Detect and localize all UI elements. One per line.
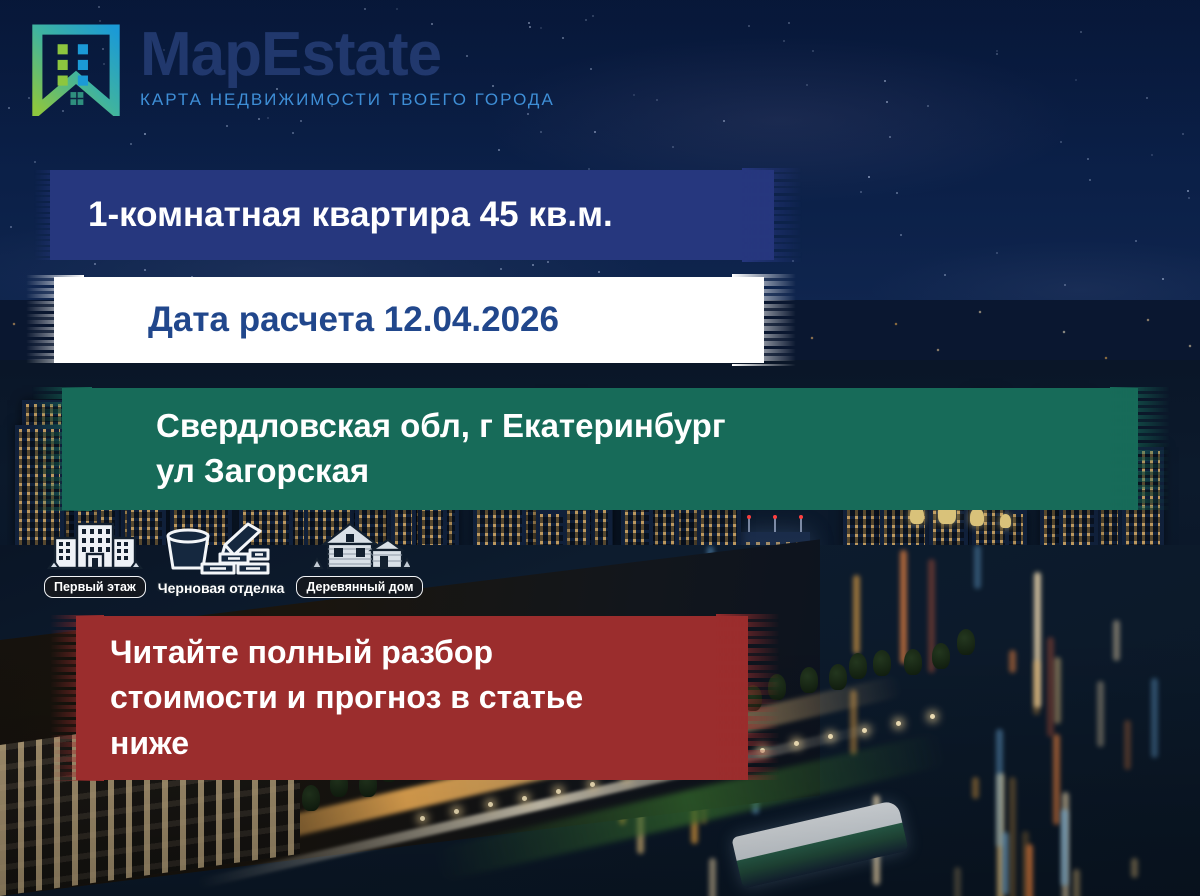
- badge-first-floor[interactable]: Первый этаж: [44, 518, 146, 598]
- address-text: Свердловская обл, г Екатеринбург ул Заго…: [156, 404, 726, 494]
- paint-bucket-trowel-bricks-icon: [162, 520, 280, 576]
- badge-label: Деревянный дом: [296, 576, 423, 598]
- brand-header: MapEstate КАРТА НЕДВИЖИМОСТИ ТВОЕГО ГОРО…: [0, 0, 1200, 140]
- badge-label: Черновая отделка: [154, 578, 289, 598]
- address-banner: Свердловская обл, г Екатеринбург ул Заго…: [46, 384, 1154, 514]
- cta-line-2: стоимости и прогноз в статье: [110, 675, 583, 720]
- feature-badges: Первый этаж: [44, 518, 423, 598]
- brush-edge-right: [1110, 387, 1170, 511]
- brand-lockup: MapEstate КАРТА НЕДВИЖИМОСТИ ТВОЕГО ГОРО…: [140, 26, 555, 115]
- badge-label: Первый этаж: [44, 576, 146, 598]
- bookmark-building-icon: [30, 24, 122, 116]
- brush-edge-right: [742, 168, 802, 262]
- badge-rough-finish[interactable]: Черновая отделка: [154, 520, 289, 598]
- apartment-building-icon: [47, 518, 143, 574]
- date-banner: Дата расчета 12.04.2026: [38, 272, 780, 368]
- cta-line-3: ниже: [110, 721, 583, 766]
- brush-edge-right: [732, 274, 796, 366]
- badge-wooden-house[interactable]: Деревянный дом: [296, 518, 423, 598]
- address-line-2: ул Загорская: [156, 449, 726, 494]
- property-title: 1-комнатная квартира 45 кв.м.: [88, 195, 613, 235]
- calculation-date: Дата расчета 12.04.2026: [148, 300, 559, 340]
- promo-poster: MapEstate КАРТА НЕДВИЖИМОСТИ ТВОЕГО ГОРО…: [0, 0, 1200, 896]
- brand-name: MapEstate: [140, 26, 555, 85]
- cta-line-1: Читайте полный разбор: [110, 630, 583, 675]
- address-line-1: Свердловская обл, г Екатеринбург: [156, 404, 726, 449]
- cta-text: Читайте полный разбор стоимости и прогно…: [110, 630, 583, 766]
- cta-banner[interactable]: Читайте полный разбор стоимости и прогно…: [62, 612, 762, 784]
- wooden-house-icon: [310, 518, 410, 574]
- property-banner: 1-комнатная квартира 45 кв.м.: [36, 166, 788, 264]
- brand-tagline: КАРТА НЕДВИЖИМОСТИ ТВОЕГО ГОРОДА: [140, 90, 555, 110]
- brush-edge-right: [716, 614, 780, 782]
